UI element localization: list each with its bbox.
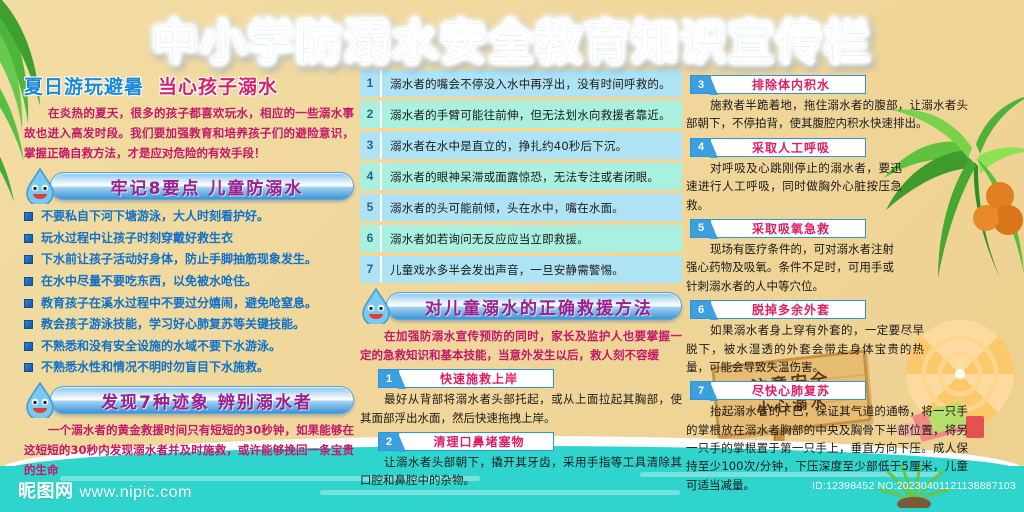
row-number: 7 <box>360 256 382 283</box>
bullet-square-icon <box>24 320 33 329</box>
list-item: 不要私自下河下塘游泳，大人时刻看护好。 <box>24 207 354 226</box>
left-headline: 夏日游玩避暑 当心孩子溺水 <box>24 72 354 99</box>
list-item: 不熟悉和没有安全设施的水域不要下水游泳。 <box>24 337 354 356</box>
bullet-text: 教育孩子在溪水过程中不要过分嬉闹，避免呛窒息。 <box>41 294 317 313</box>
bullet-text: 在水中尽量不要吃东西，以免被水呛住。 <box>41 272 257 291</box>
banner-7-signs: 发现7种迹象 辨别溺水者 <box>24 386 354 414</box>
bullet-text: 不熟悉水性和情况不明时勿盲目下水施救。 <box>41 358 269 377</box>
step-label: 采取吸氧急救 <box>711 220 865 237</box>
banner-rescue-methods: 对儿童溺水的正确救援方法 <box>360 292 682 320</box>
mid-intro-paragraph: 在加强防溺水宣传预防的同时，家长及监护人也要掌握一定的急救知识和基本技能，当意外… <box>360 327 682 364</box>
left-intro-paragraph: 在炎热的夏天，很多的孩子都喜欢玩水，相应的一些溺水事故也进入高发时段。我们要加强… <box>24 104 354 163</box>
table-row: 2 溺水者的手臂可能往前伸，但无法划水向救援者靠近。 <box>360 101 682 128</box>
table-row: 3 溺水者在水中是直立的，挣扎约40秒后下沉。 <box>360 132 682 159</box>
step-heading-1: 1 快速施救上岸 <box>378 369 554 388</box>
headline-blue: 夏日游玩避暑 <box>24 72 144 99</box>
step-heading-7: 7 尽快心肺复苏 <box>690 381 866 400</box>
step-text-5: 现场有医疗条件的，可对溺水者注射强心药物及吸氧。条件不足时，可用手或针刺溺水者的… <box>686 240 894 295</box>
list-item: 在水中尽量不要吃东西，以免被水呛住。 <box>24 272 354 291</box>
step-heading-4: 4 采取人工呼吸 <box>690 138 866 157</box>
footer-brand: 昵图网 www.nipic.com <box>18 477 192 503</box>
poster-title: 中小学防溺水安全教育知识宣传栏 <box>152 6 872 72</box>
step-number: 1 <box>379 370 399 387</box>
headline-red: 当心孩子溺水 <box>158 72 278 99</box>
banner-rescue-text: 对儿童溺水的正确救援方法 <box>425 294 653 319</box>
row-number: 6 <box>360 225 382 252</box>
banner-7-signs-text: 发现7种迹象 辨别溺水者 <box>101 388 313 413</box>
list-item: 教育孩子在溪水过程中不要过分嬉闹，避免呛窒息。 <box>24 294 354 313</box>
bullet-square-icon <box>24 255 33 264</box>
row-number: 3 <box>360 132 382 159</box>
bullet-text: 不要私自下河下塘游泳，大人时刻看护好。 <box>41 207 269 226</box>
banner-8-points-text: 牢记8要点 儿童防溺水 <box>111 174 304 199</box>
bullet-square-icon <box>24 363 33 372</box>
column-left: 夏日游玩避暑 当心孩子溺水 在炎热的夏天，很多的孩子都喜欢玩水，相应的一些溺水事… <box>24 72 354 480</box>
step-heading-2: 2 清理口鼻堵塞物 <box>378 432 554 451</box>
list-item: 下水前让孩子活动好身体，防止手脚抽筋现象发生。 <box>24 250 354 269</box>
step-label: 清理口鼻堵塞物 <box>399 433 553 450</box>
step-number: 6 <box>691 301 711 318</box>
step-label: 排除体内积水 <box>711 76 865 93</box>
row-text: 溺水者在水中是直立的，挣扎约40秒后下沉。 <box>382 138 627 154</box>
brand-url: www.nipic.com <box>80 484 192 502</box>
step-number: 3 <box>691 76 711 93</box>
row-text: 溺水者的手臂可能往前伸，但无法划水向救援者靠近。 <box>382 107 671 123</box>
step-text-4: 对呼吸及心跳刚停止的溺水者，要迅速进行人工呼吸，同时做胸外心脏按压急救。 <box>686 159 902 214</box>
bullet-square-icon <box>24 212 33 221</box>
step-label: 脱掉多余外套 <box>711 301 865 318</box>
table-row: 1 溺水者的嘴会不停没入水中再浮出，没有时间呼救的。 <box>360 70 682 97</box>
column-middle: 1 溺水者的嘴会不停没入水中再浮出，没有时间呼救的。 2 溺水者的手臂可能往前伸… <box>360 70 682 492</box>
table-row: 4 溺水者的眼神呆滞或面露惊恐，无法专注或者闭眼。 <box>360 163 682 190</box>
bullet-square-icon <box>24 234 33 243</box>
step-label: 尽快心肺复苏 <box>711 382 865 399</box>
step-heading-3: 3 排除体内积水 <box>690 75 866 94</box>
step-text-2: 让溺水者头部朝下，撬开其牙齿，采用手指等工具清除其口腔和鼻腔中的杂物。 <box>360 453 682 490</box>
table-row: 7 儿童戏水多半会发出声音，一旦安静需警惕。 <box>360 256 682 283</box>
step-heading-5: 5 采取吸氧急救 <box>690 219 866 238</box>
poster-canvas: 注意安全 小心溺水 昵图网 www.nipic.com ID:12398452 … <box>0 0 1024 512</box>
row-number: 5 <box>360 194 382 221</box>
table-row: 5 溺水者的头可能前倾，头在水中，嘴在水面。 <box>360 194 682 221</box>
step-text-3: 施救者半跪着地，拖住溺水者的腹部，让溺水者头部朝下，不停拍背，使其腹腔内积水快速… <box>686 96 968 133</box>
list-item: 不熟悉水性和情况不明时勿盲目下水施救。 <box>24 358 354 377</box>
left-paragraph-2: 一个溺水者的黄金救援时间只有短短的30秒钟，如果能够在这短短的30秒内发现溺水者… <box>24 421 354 480</box>
step-heading-6: 6 脱掉多余外套 <box>690 300 866 319</box>
step-text-7: 抬起溺水者的下巴，保证其气道的通畅，将一只手的掌根放在溺水者胸部的中央及胸骨下半… <box>686 402 968 494</box>
row-number: 2 <box>360 101 382 128</box>
step-text-1: 最好从背部将溺水者头部托起，或从上面拉起其胸部，使其面部浮出水面，然后快速拖拽上… <box>360 390 682 427</box>
bullet-text: 教会孩子游泳技能，学习好心肺复苏等关键技能。 <box>41 315 305 334</box>
list-item: 玩水过程中让孩子时刻穿戴好救生衣 <box>24 229 354 248</box>
row-text: 溺水者的眼神呆滞或面露惊恐，无法专注或者闭眼。 <box>382 169 659 185</box>
row-text: 溺水者如若询问无反应应当立即救援。 <box>382 231 589 247</box>
bullet-text: 不熟悉和没有安全设施的水域不要下水游泳。 <box>41 337 281 356</box>
step-label: 采取人工呼吸 <box>711 139 865 156</box>
row-text: 溺水者的嘴会不停没入水中再浮出，没有时间呼救的。 <box>382 76 671 92</box>
step-text-6: 如果溺水者身上穿有外套的，一定要尽早脱下，被水湿透的外套会带走身体宝贵的热量，可… <box>686 321 924 376</box>
table-row: 6 溺水者如若询问无反应应当立即救援。 <box>360 225 682 252</box>
row-number: 4 <box>360 163 382 190</box>
row-number: 1 <box>360 70 382 97</box>
prevention-bullet-list: 不要私自下河下塘游泳，大人时刻看护好。 玩水过程中让孩子时刻穿戴好救生衣 下水前… <box>24 207 354 377</box>
brand-name: 昵图网 <box>18 477 74 503</box>
bullet-text: 玩水过程中让孩子时刻穿戴好救生衣 <box>41 229 233 248</box>
row-text: 儿童戏水多半会发出声音，一旦安静需警惕。 <box>382 262 624 278</box>
row-text: 溺水者的头可能前倾，头在水中，嘴在水面。 <box>382 200 624 216</box>
bullet-square-icon <box>24 299 33 308</box>
list-item: 教会孩子游泳技能，学习好心肺复苏等关键技能。 <box>24 315 354 334</box>
water-drop-mascot-icon <box>360 288 392 324</box>
step-label: 快速施救上岸 <box>399 370 553 387</box>
step-number: 5 <box>691 220 711 237</box>
bullet-square-icon <box>24 277 33 286</box>
poster-title-wrap: 中小学防溺水安全教育知识宣传栏 <box>0 6 1024 72</box>
step-number: 4 <box>691 139 711 156</box>
drowning-signs-list: 1 溺水者的嘴会不停没入水中再浮出，没有时间呼救的。 2 溺水者的手臂可能往前伸… <box>360 70 682 283</box>
bullet-square-icon <box>24 342 33 351</box>
water-drop-mascot-icon <box>24 168 56 204</box>
bullet-text: 下水前让孩子活动好身体，防止手脚抽筋现象发生。 <box>41 250 317 269</box>
water-drop-mascot-icon <box>24 382 56 418</box>
step-number: 2 <box>379 433 399 450</box>
banner-8-points: 牢记8要点 儿童防溺水 <box>24 172 354 200</box>
step-number: 7 <box>691 382 711 399</box>
column-right: 3 排除体内积水 施救者半跪着地，拖住溺水者的腹部，让溺水者头部朝下，不停拍背，… <box>686 70 982 496</box>
